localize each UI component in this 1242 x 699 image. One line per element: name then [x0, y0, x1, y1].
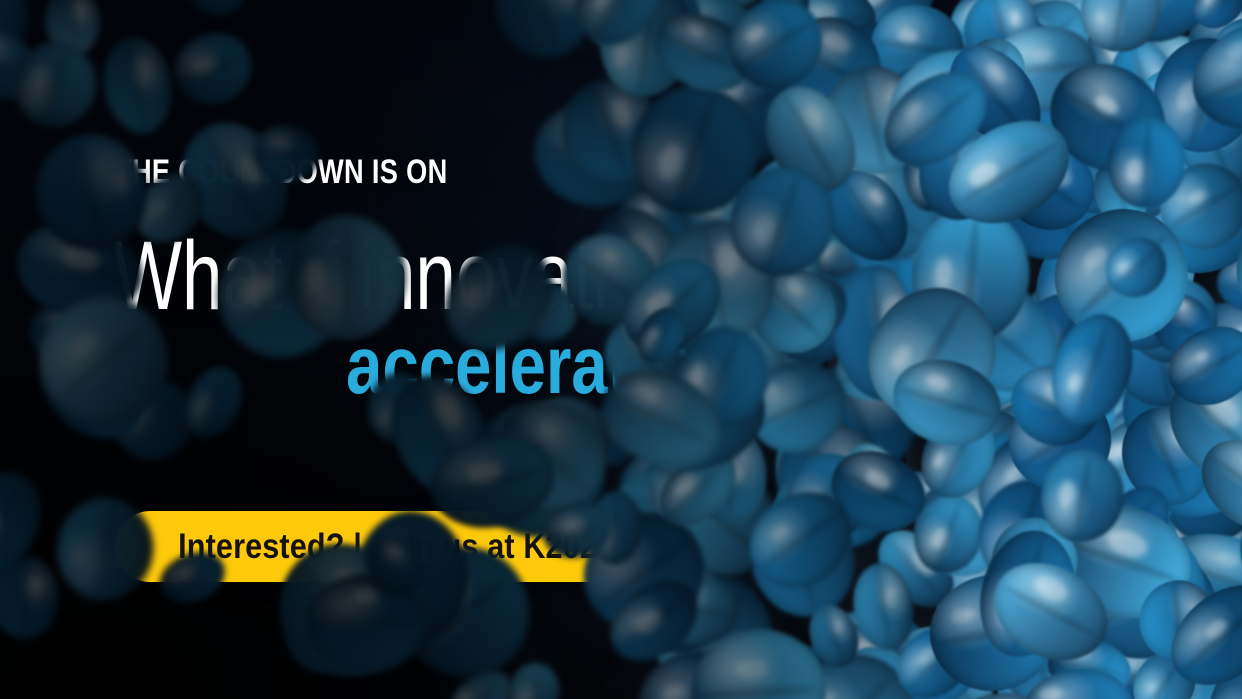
campaign-banner: THE COUNTDOWN IS ON What if innovation..… [0, 0, 1242, 699]
